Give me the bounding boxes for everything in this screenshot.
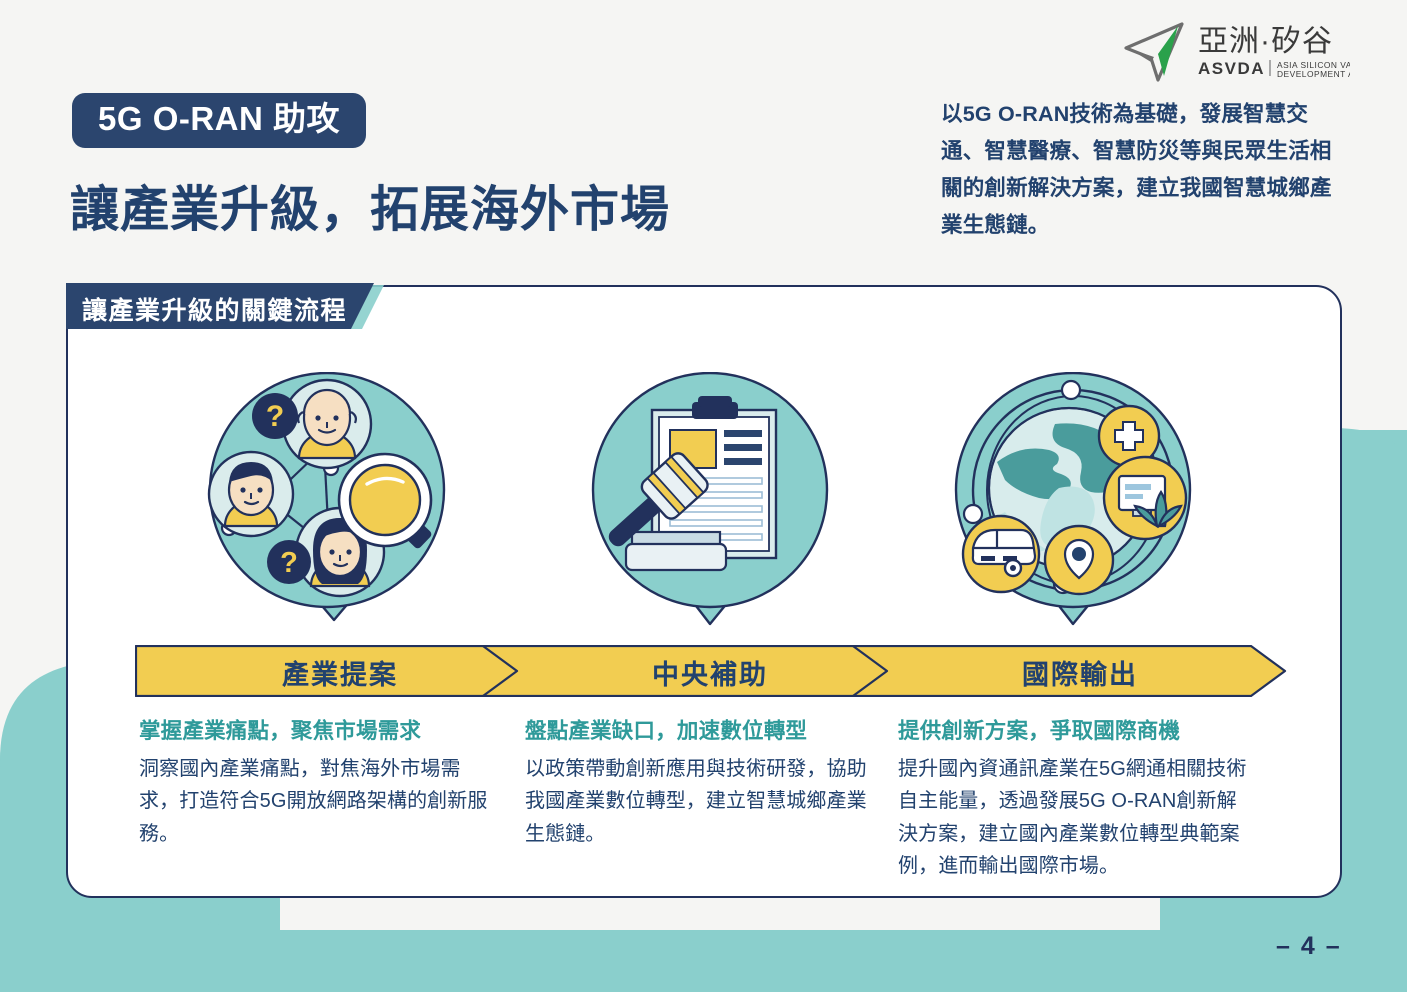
logo-abbr-text: ASVDA <box>1198 59 1265 78</box>
asvda-logo-svg: 亞洲·矽谷 ASVDA ASIA SILICON VALLEY DEVELOPM… <box>1118 18 1350 86</box>
step-column-1: 掌握產業痛點，聚焦市場需求 洞察國內產業痛點，對焦海外市場需求，打造符合5G開放… <box>139 718 489 850</box>
banner-label-3: 國際輸出 <box>915 653 1245 692</box>
step-body-2: 以政策帶動創新應用與技術研發，協助我國產業數位轉型，建立智慧城鄉產業生態鏈。 <box>525 753 875 850</box>
globe-smart-city-icon <box>947 372 1207 638</box>
logo-chinese-text: 亞洲·矽谷 <box>1198 25 1333 58</box>
banner-label-2: 中央補助 <box>545 653 875 692</box>
illustration-globe-smart-city <box>947 372 1207 638</box>
kicker-badge: 5G O-RAN 助攻 <box>72 93 366 148</box>
gavel-document-icon <box>588 372 842 638</box>
step-body-3: 提升國內資通訊產業在5G網通相關技術自主能量，透過發展5G O-RAN創新解決方… <box>898 753 1253 883</box>
badge-location-pin-icon <box>1045 526 1113 594</box>
people-network-magnifier-icon: ? <box>207 372 461 638</box>
illustration-gavel-document <box>588 372 842 638</box>
svg-text:?: ? <box>266 400 284 433</box>
page-title: 讓產業升級，拓展海外市場 <box>70 170 670 241</box>
step-heading-1: 掌握產業痛點，聚焦市場需求 <box>139 718 489 746</box>
gavel-base-icon <box>626 532 726 570</box>
illustration-people-network: ? <box>207 372 461 638</box>
step-heading-2: 盤點產業缺口，加速數位轉型 <box>525 718 875 746</box>
svg-text:?: ? <box>280 547 298 579</box>
logo-english-line2: DEVELOPMENT AGENCY <box>1277 69 1350 79</box>
badge-agriculture-screen-icon <box>1104 457 1186 539</box>
intro-paragraph: 以5G O-RAN技術為基礎，發展智慧交通、智慧醫療、智慧防災等與民眾生活相關的… <box>941 96 1333 244</box>
step-body-1: 洞察國內產業痛點，對焦海外市場需求，打造符合5G開放網路架構的創新服務。 <box>139 753 489 850</box>
logo-arrow-icon <box>1126 24 1182 80</box>
banner-label-1: 產業提案 <box>175 653 505 692</box>
question-badge-1-icon: ? <box>252 393 298 439</box>
slide-root: 亞洲·矽谷 ASVDA ASIA SILICON VALLEY DEVELOPM… <box>0 0 1407 992</box>
step-column-3: 提供創新方案，爭取國際商機 提升國內資通訊產業在5G網通相關技術自主能量，透過發… <box>898 718 1253 883</box>
avatar-male-icon <box>209 452 293 536</box>
question-badge-2-icon: ? <box>267 540 311 584</box>
badge-transport-icon <box>963 516 1039 592</box>
step-column-2: 盤點產業缺口，加速數位轉型 以政策帶動創新應用與技術研發，協助我國產業數位轉型，… <box>525 718 875 850</box>
asvda-logo: 亞洲·矽谷 ASVDA ASIA SILICON VALLEY DEVELOPM… <box>1118 18 1350 86</box>
section-tab-label: 讓產業升級的關鍵流程 <box>82 291 347 327</box>
step-heading-3: 提供創新方案，爭取國際商機 <box>898 718 1253 746</box>
page-number: – 4 – <box>1276 932 1342 961</box>
